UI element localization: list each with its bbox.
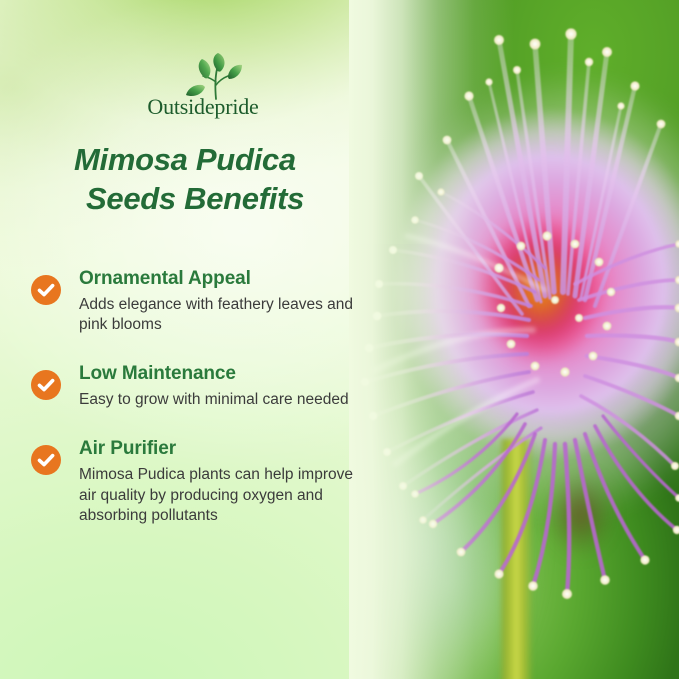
- check-circle-icon: [30, 369, 62, 401]
- flower-photo: [349, 0, 679, 679]
- check-circle-icon: [30, 274, 62, 306]
- benefit-item: Low Maintenance Easy to grow with minima…: [30, 363, 390, 410]
- page-title-line-1: Mimosa Pudica: [74, 142, 296, 177]
- benefit-title: Ornamental Appeal: [79, 268, 390, 291]
- benefit-item: Air Purifier Mimosa Pudica plants can he…: [30, 438, 390, 526]
- benefit-description: Adds elegance with feathery leaves and p…: [79, 295, 369, 336]
- benefits-list: Ornamental Appeal Adds elegance with fea…: [30, 268, 390, 526]
- brand-logo[interactable]: Outsidepride: [136, 52, 270, 124]
- benefit-description: Mimosa Pudica plants can help improve ai…: [79, 465, 369, 526]
- flower-photo-inner: [349, 0, 679, 679]
- benefit-item: Ornamental Appeal Adds elegance with fea…: [30, 268, 390, 335]
- brand-name: Outsidepride: [136, 94, 270, 120]
- benefit-title: Air Purifier: [79, 438, 390, 461]
- benefit-description: Easy to grow with minimal care needed: [79, 390, 369, 410]
- benefit-title: Low Maintenance: [79, 363, 390, 386]
- page-title-line-2: Seeds Benefits: [74, 179, 404, 218]
- check-circle-icon: [30, 444, 62, 476]
- sprout-leaves-icon: [182, 52, 246, 100]
- promotional-poster: Outsidepride Mimosa Pudica Seeds Benefit…: [0, 0, 679, 679]
- page-title: Mimosa Pudica Seeds Benefits: [74, 140, 404, 219]
- photo-left-fade: [349, 0, 679, 679]
